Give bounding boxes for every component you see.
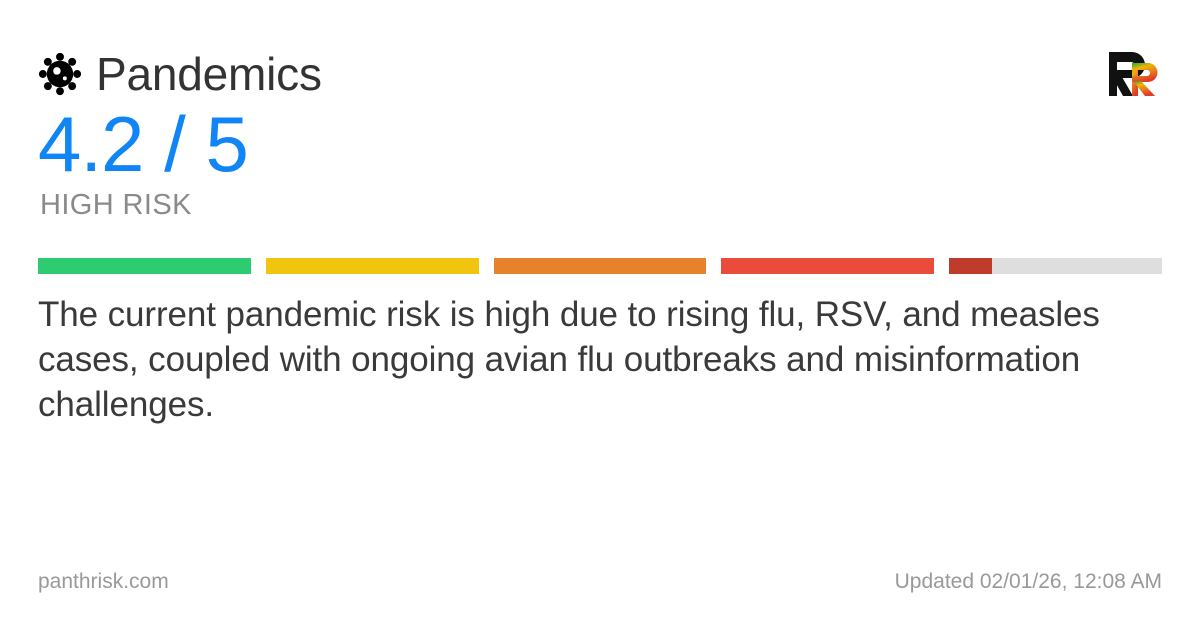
site-url[interactable]: panthrisk.com xyxy=(38,570,169,594)
card-footer: panthrisk.com Updated 02/01/26, 12:08 AM xyxy=(38,570,1162,594)
virus-icon xyxy=(38,52,82,96)
risk-segment-fill xyxy=(38,258,251,274)
title-group: Pandemics xyxy=(38,51,322,97)
page-title: Pandemics xyxy=(96,51,322,97)
segment-1-low xyxy=(38,258,251,274)
risk-segment-bar xyxy=(38,258,1162,274)
brand-logo[interactable] xyxy=(1106,50,1162,98)
segment-3-elevated xyxy=(494,258,707,274)
segment-2-moderate xyxy=(266,258,479,274)
risk-card: Pandemics xyxy=(0,0,1200,630)
risk-segment-fill xyxy=(949,258,992,274)
updated-timestamp: Updated 02/01/26, 12:08 AM xyxy=(895,570,1162,594)
card-header: Pandemics xyxy=(38,44,1162,104)
segment-4-high xyxy=(721,258,934,274)
risk-score: 4.2 / 5 xyxy=(38,104,248,186)
segment-5-severe xyxy=(949,258,1162,274)
risk-description: The current pandemic risk is high due to… xyxy=(38,293,1158,427)
risk-segment-fill xyxy=(721,258,934,274)
risk-level-label: HIGH RISK xyxy=(40,190,192,222)
risk-segment-fill xyxy=(494,258,707,274)
risk-segment-fill xyxy=(266,258,479,274)
